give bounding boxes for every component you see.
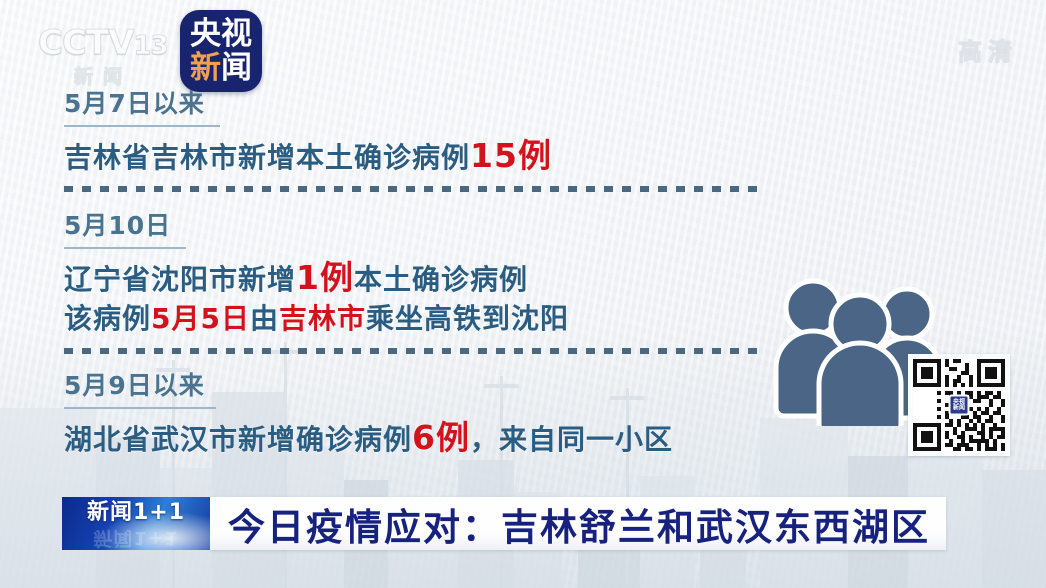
text-segment: 该病例 [64, 302, 151, 335]
cctv-news-badge: 央 视 新 闻 [180, 10, 262, 92]
block-2-date-underline [64, 247, 186, 249]
broadcast-screenshot: CCTV13 新闻 高清 央 视 新 闻 5月7日以来 吉林省吉林市新增本土确诊… [0, 0, 1046, 588]
text-segment: 由 [250, 302, 279, 335]
block-3-line-1: 湖北省武汉市新增确诊病例6例，来自同一小区 [64, 416, 673, 460]
block-3-date: 5月9日以来 [64, 372, 205, 405]
text-segment: 辽宁省沈阳市新增 [64, 263, 296, 296]
highlight-city: 吉林市 [279, 302, 366, 335]
block-3-date-underline [64, 407, 216, 409]
badge-char-xin: 新 [190, 53, 221, 84]
channel-number: 13 [133, 31, 167, 61]
badge-row-1: 央 视 [190, 19, 252, 50]
highlight-count: 6例 [412, 418, 470, 457]
qr-center-logo: 央视 新闻 [949, 395, 970, 416]
block-1-date-underline [64, 125, 220, 127]
divider-1 [64, 186, 764, 192]
block-2-line-2: 该病例5月5日由吉林市乘坐高铁到沈阳 [64, 300, 569, 338]
cctv-wordmark: CCTV13 [38, 26, 188, 60]
block-1-date: 5月7日以来 [64, 90, 205, 123]
qr-matrix: 央视 新闻 [913, 359, 1005, 451]
program-badge-label: 新闻1+1 [87, 502, 185, 524]
badge-char-yang: 央 [190, 19, 221, 50]
info-block-3: 5月9日以来 湖北省武汉市新增确诊病例6例，来自同一小区 [64, 372, 673, 460]
badge-row-2: 新 闻 [190, 53, 252, 84]
info-block-2: 5月10日 辽宁省沈阳市新增1例本土确诊病例 该病例5月5日由吉林市乘坐高铁到沈… [64, 212, 569, 337]
qr-code: 央视 新闻 [908, 354, 1010, 456]
cctv13-channel-logo: CCTV13 新闻 [38, 26, 188, 88]
banner-title: 今日疫情应对：吉林舒兰和武汉东西湖区 [210, 497, 946, 550]
text-segment: 湖北省武汉市新增确诊病例 [64, 423, 412, 456]
block-1-line-1: 吉林省吉林市新增本土确诊病例15例 [64, 134, 552, 178]
highlight-count: 15例 [470, 136, 552, 175]
block-2-line-1: 辽宁省沈阳市新增1例本土确诊病例 [64, 256, 569, 300]
text-segment: 本土确诊病例 [354, 263, 528, 296]
hd-quality-watermark: 高清 [958, 32, 1018, 67]
badge-char-shi: 视 [221, 19, 252, 50]
qr-logo-line-2: 新闻 [953, 405, 965, 411]
info-block-1: 5月7日以来 吉林省吉林市新增本土确诊病例15例 [64, 90, 552, 178]
highlight-count: 1例 [296, 258, 354, 297]
divider-2 [64, 348, 764, 354]
highlight-date: 5月5日 [151, 302, 250, 335]
text-segment: ，来自同一小区 [470, 423, 673, 456]
channel-sub-label: 新闻 [74, 62, 188, 89]
text-segment: 吉林省吉林市新增本土确诊病例 [64, 141, 470, 174]
program-badge: 新闻1+1 新闻1+1 [62, 497, 210, 550]
lower-third-banner: 新闻1+1 新闻1+1 今日疫情应对：吉林舒兰和武汉东西湖区 [62, 497, 946, 550]
block-2-date: 5月10日 [64, 212, 171, 245]
badge-char-wen: 闻 [221, 53, 252, 84]
text-segment: 乘坐高铁到沈阳 [366, 302, 569, 335]
program-badge-reflection: 新闻1+1 [93, 528, 178, 547]
